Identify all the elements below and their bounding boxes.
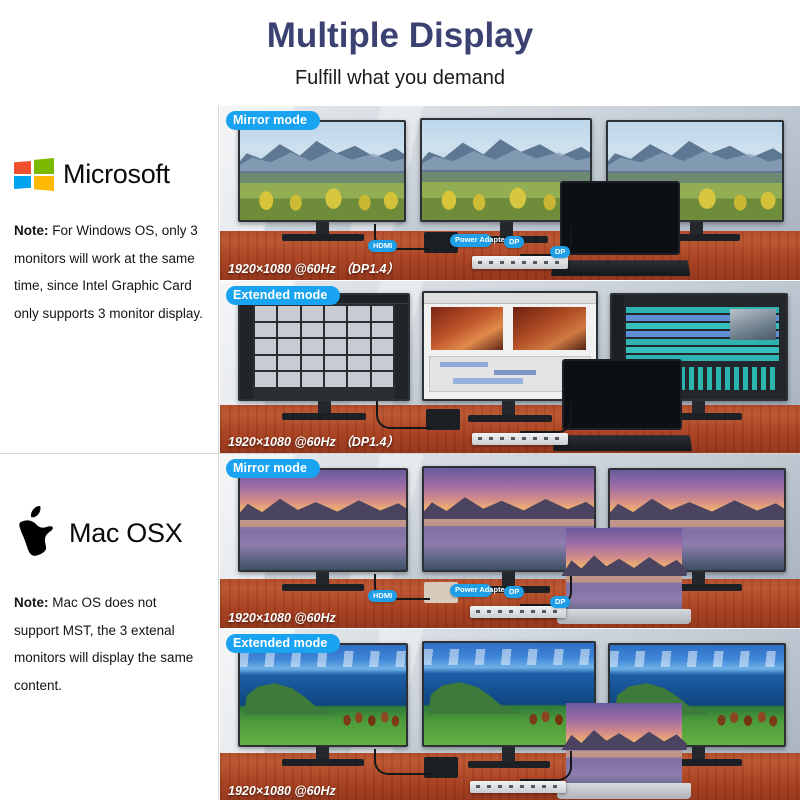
scene-windows-extended	[220, 281, 800, 454]
product-feature-page: Multiple Display Fulfill what you demand…	[0, 0, 800, 800]
mode-badge-extended: Extended mode	[226, 286, 340, 305]
hdmi-cable	[376, 401, 432, 429]
scene-mac-mirror: HDMI Power Adapter DP DP	[220, 454, 800, 628]
docking-station	[472, 256, 568, 269]
port-badge-hdmi: HDMI	[368, 240, 397, 252]
panel-mac-extended: Extended mode 1920×1080 @60Hz	[220, 628, 800, 800]
microsoft-panels: HDMI Power Adapter DP DP Mirror mode	[220, 106, 800, 453]
mode-badge-mirror: Mirror mode	[226, 459, 320, 478]
docking-station	[470, 606, 566, 618]
port-badge-dp-2: DP	[550, 596, 570, 608]
resolution-caption: 1920×1080 @60Hz	[228, 784, 336, 798]
port-badge-dp-2: DP	[550, 246, 570, 258]
microsoft-brand: Microsoft	[14, 158, 204, 191]
windows-logo-icon	[14, 158, 54, 191]
monitor-left	[238, 120, 406, 222]
laptop-macbook-keyboard	[557, 783, 692, 798]
page-subtitle: Fulfill what you demand	[0, 62, 800, 94]
scene-windows-mirror: HDMI Power Adapter DP DP	[220, 106, 800, 280]
laptop-windows	[560, 181, 680, 276]
monitor-left	[238, 293, 410, 401]
laptop-macbook-screen	[566, 703, 682, 776]
port-badge-hdmi: HDMI	[368, 590, 397, 602]
laptop-macbook-screen	[566, 528, 682, 601]
macosx-panels: HDMI Power Adapter DP DP Mirror mode	[220, 454, 800, 800]
monitor-left	[238, 643, 408, 747]
macosx-os-name: Mac OSX	[69, 518, 182, 549]
laptop-macbook	[566, 528, 682, 624]
apple-logo-icon	[14, 504, 58, 563]
docking-station	[470, 781, 566, 793]
resolution-caption: 1920×1080 @60Hz （DP1.4）	[228, 431, 399, 450]
dp-cable	[520, 403, 572, 433]
section-microsoft: Microsoft Note: For Windows OS, only 3 m…	[0, 106, 800, 453]
page-title: Multiple Display	[0, 10, 800, 62]
macosx-brand: Mac OSX	[14, 504, 204, 563]
os-comparison-grid: Microsoft Note: For Windows OS, only 3 m…	[0, 106, 800, 800]
hdmi-cable	[374, 749, 430, 775]
page-header: Multiple Display Fulfill what you demand	[0, 0, 800, 106]
mode-badge-extended: Extended mode	[226, 634, 340, 653]
laptop-windows-screen	[560, 181, 680, 255]
microsoft-info-column: Microsoft Note: For Windows OS, only 3 m…	[0, 106, 219, 453]
resolution-caption: 1920×1080 @60Hz （DP1.4）	[228, 258, 399, 277]
monitor-left	[238, 468, 408, 572]
macosx-note-label: Note:	[14, 595, 49, 610]
laptop-macbook	[566, 703, 682, 799]
macosx-info-column: Mac OSX Note: Mac OS does not support MS…	[0, 454, 219, 800]
monitor-left-screen	[240, 122, 404, 220]
laptop-windows-screen	[562, 359, 682, 431]
port-badge-power-adapter: Power Adapter	[450, 584, 492, 597]
monitor-left-screen	[240, 470, 406, 570]
mode-badge-mirror: Mirror mode	[226, 111, 320, 130]
microsoft-note: Note: For Windows OS, only 3 monitors wi…	[14, 217, 204, 328]
macosx-note: Note: Mac OS does not support MST, the 3…	[14, 589, 204, 700]
scene-mac-extended	[220, 629, 800, 800]
port-badge-power-adapter: Power Adapter	[450, 234, 492, 247]
monitor-left-screen-photo-app	[240, 295, 408, 399]
monitor-left-screen	[240, 645, 406, 745]
panel-windows-extended: Extended mode 1920×1080 @60Hz （DP1.4）	[220, 280, 800, 454]
laptop-macbook-keyboard	[557, 609, 692, 624]
panel-windows-mirror: HDMI Power Adapter DP DP Mirror mode	[220, 106, 800, 280]
laptop-windows-keyboard	[550, 260, 689, 276]
dp-cable	[520, 751, 572, 781]
microsoft-os-name: Microsoft	[63, 159, 170, 190]
resolution-caption: 1920×1080 @60Hz	[228, 611, 336, 625]
panel-mac-mirror: HDMI Power Adapter DP DP Mirror mode	[220, 454, 800, 628]
microsoft-note-label: Note:	[14, 223, 49, 238]
laptop-windows-keyboard	[553, 435, 692, 451]
docking-station	[472, 433, 568, 445]
port-badge-dp-1: DP	[504, 236, 524, 248]
section-macosx: Mac OSX Note: Mac OS does not support MS…	[0, 453, 800, 800]
port-badge-dp-1: DP	[504, 586, 524, 598]
laptop-windows	[562, 359, 682, 451]
